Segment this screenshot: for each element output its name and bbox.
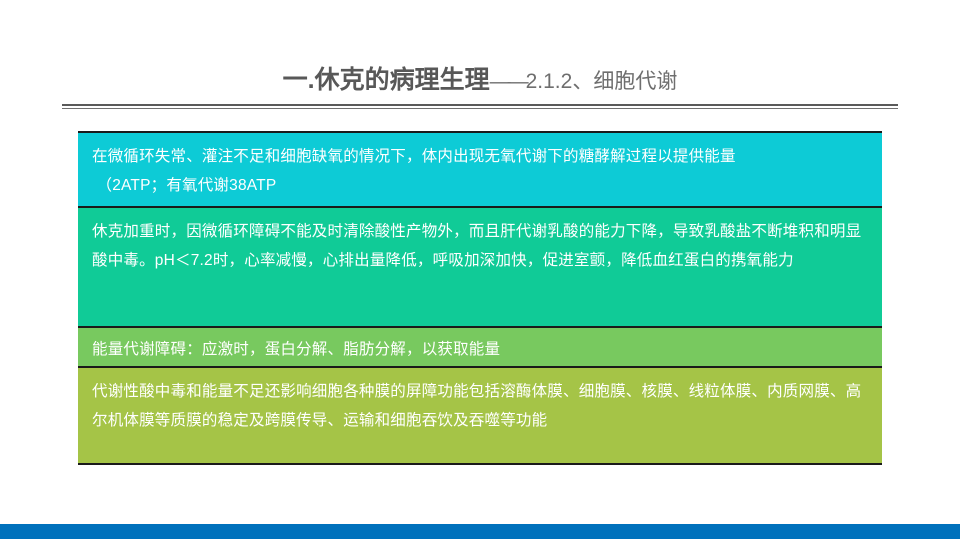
- content-block-text: 代谢性酸中毒和能量不足还影响细胞各种膜的屏障功能包括溶酶体膜、细胞膜、核膜、线粒…: [92, 377, 868, 435]
- content-block-text: 能量代谢障碍：应激时，蛋白分解、脂肪分解，以获取能量: [92, 337, 868, 363]
- slide-canvas: 一.休克的病理生理——2.1.2、细胞代谢 在微循环失常、灌注不足和细胞缺氧的情…: [0, 0, 960, 539]
- bottom-accent-bar: [0, 524, 960, 539]
- title-divider: [62, 104, 898, 109]
- content-block-anaerobic-metabolism: 在微循环失常、灌注不足和细胞缺氧的情况下，体内出现无氧代谢下的糖酵解过程以提供能…: [78, 131, 882, 208]
- page-title-subtitle: 2.1.2、细胞代谢: [526, 70, 678, 93]
- page-title: 一.休克的病理生理——2.1.2、细胞代谢: [0, 60, 960, 96]
- content-block-text: 在微循环失常、灌注不足和细胞缺氧的情况下，体内出现无氧代谢下的糖酵解过程以提供能…: [92, 142, 868, 200]
- page-title-main: 一.休克的病理生理: [283, 66, 490, 94]
- title-divider-line-top: [62, 104, 898, 106]
- title-divider-line-bottom: [62, 108, 898, 109]
- content-block-membrane-barrier-function: 代谢性酸中毒和能量不足还影响细胞各种膜的屏障功能包括溶酶体膜、细胞膜、核膜、线粒…: [78, 368, 882, 465]
- title-dash-separator: ——: [490, 70, 526, 93]
- content-block-text: 休克加重时，因微循环障碍不能及时清除酸性产物外，而且肝代谢乳酸的能力下降，导致乳…: [92, 217, 868, 275]
- content-block-lactic-acidosis: 休克加重时，因微循环障碍不能及时清除酸性产物外，而且肝代谢乳酸的能力下降，导致乳…: [78, 208, 882, 328]
- content-block-energy-metabolism-disorder: 能量代谢障碍：应激时，蛋白分解、脂肪分解，以获取能量: [78, 328, 882, 368]
- content-block-list: 在微循环失常、灌注不足和细胞缺氧的情况下，体内出现无氧代谢下的糖酵解过程以提供能…: [78, 131, 882, 465]
